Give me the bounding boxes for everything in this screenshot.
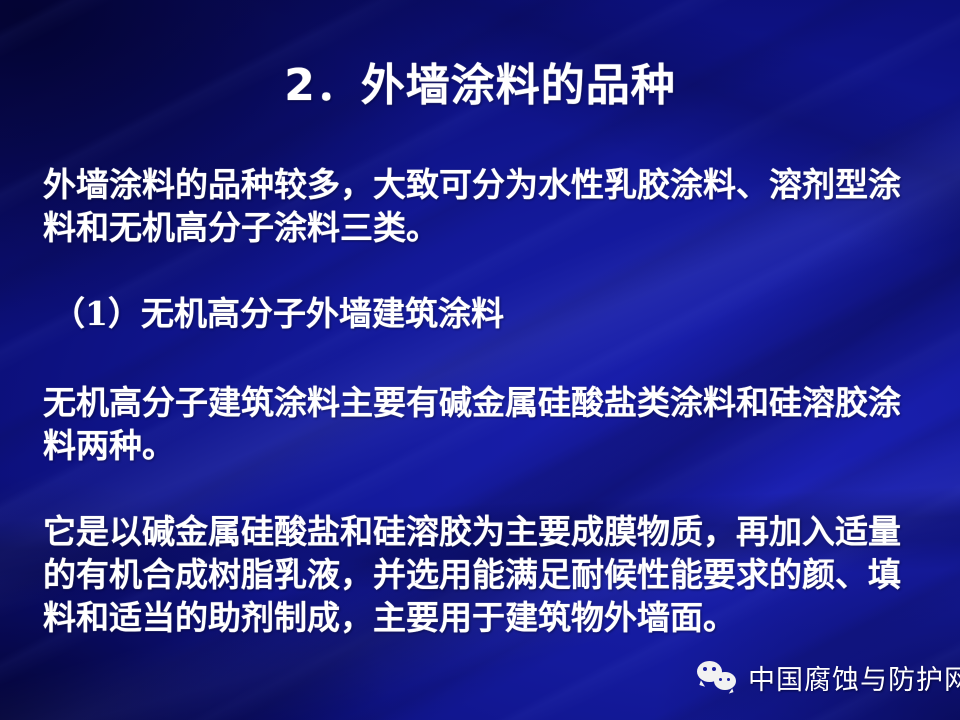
wechat-icon xyxy=(697,660,739,694)
slide-title-number: 2． xyxy=(284,60,361,111)
section-heading-inorganic-polymer: （1）无机高分子外墙建筑涂料 xyxy=(52,292,932,335)
paragraph-inorganic-types: 无机高分子建筑涂料主要有碱金属硅酸盐类涂料和硅溶胶涂料两种。 xyxy=(43,381,923,467)
watermark: 中国腐蚀与防护网 xyxy=(697,655,960,699)
slide-title: 2．外墙涂料的品种 xyxy=(0,62,960,110)
slide-title-text: 外墙涂料的品种 xyxy=(361,60,676,111)
watermark-label: 中国腐蚀与防护网 xyxy=(748,658,960,697)
presentation-slide: 2．外墙涂料的品种 外墙涂料的品种较多，大致可分为水性乳胶涂料、溶剂型涂料和无机… xyxy=(0,0,960,720)
slide-content: 2．外墙涂料的品种 外墙涂料的品种较多，大致可分为水性乳胶涂料、溶剂型涂料和无机… xyxy=(0,0,960,720)
wechat-bubble-small xyxy=(714,672,736,690)
paragraph-composition-detail: 它是以碱金属硅酸盐和硅溶胶为主要成膜物质，再加入适量的有机合成树脂乳液，并选用能… xyxy=(43,510,923,639)
paragraph-intro: 外墙涂料的品种较多，大致可分为水性乳胶涂料、溶剂型涂料和无机高分子涂料三类。 xyxy=(43,163,923,249)
